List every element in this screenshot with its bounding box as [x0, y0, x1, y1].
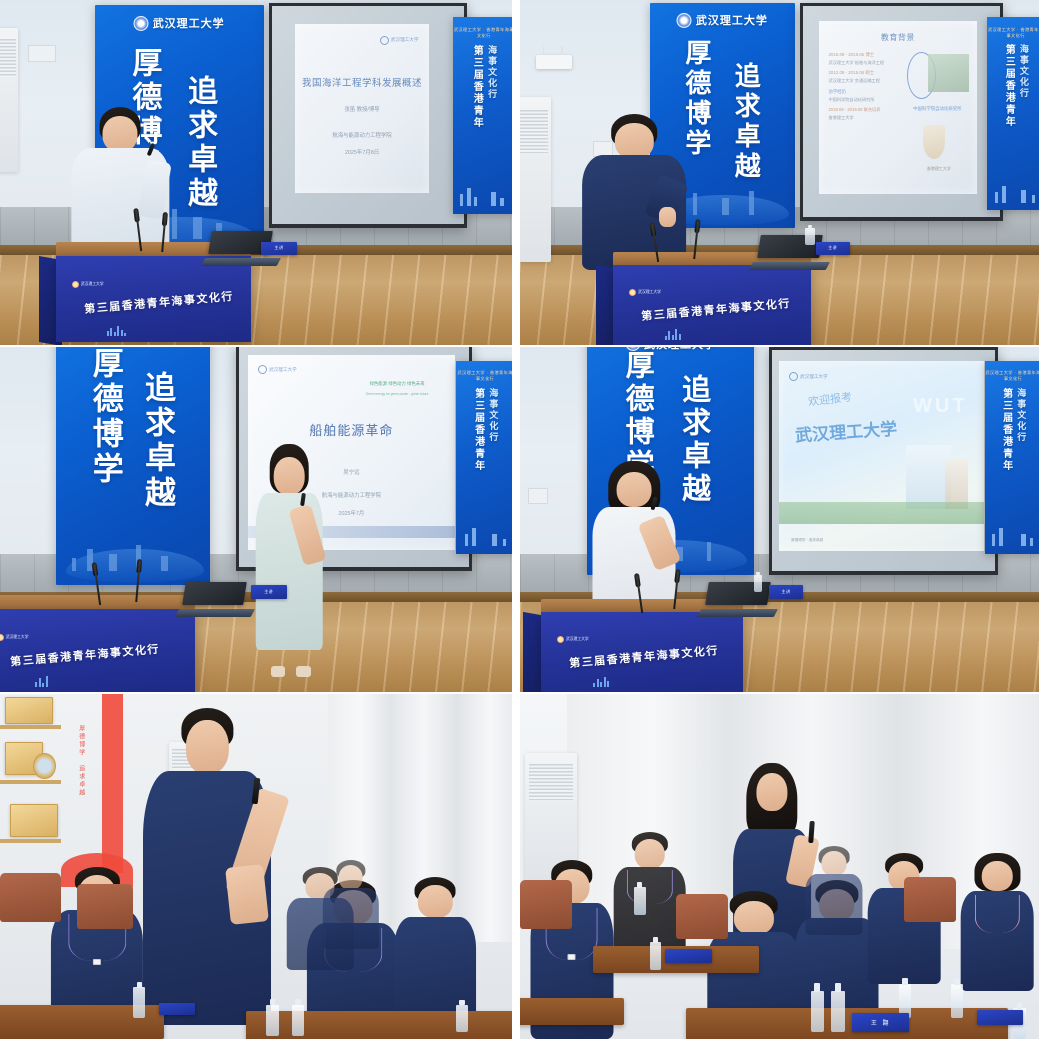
- slide-bullet-0: 2015.09 - 2019.06 博士: [828, 52, 904, 58]
- podium-name-placard: 主讲: [261, 242, 297, 256]
- side-banner-columns: 第三届香港青年 海事文化行: [453, 45, 512, 171]
- questioner-head: [756, 773, 787, 812]
- presentation-slide-1: 武汉理工大学 我国海洋工程学科发展概述 张笛 教授/博导 航海与能源动力工程学院…: [295, 24, 429, 194]
- podium: 武汉理工大学 第三届香港青年海事文化行: [0, 595, 195, 692]
- projection-screen: 武汉理工大学 欢迎报考 武汉理工大学 WUT 厚德博学 · 追求卓越: [772, 350, 995, 571]
- banner-skyline-graphic: [56, 520, 210, 585]
- speaker-shoe-left: [271, 666, 286, 677]
- slide-footer: 厚德博学 · 追求卓越: [791, 538, 823, 543]
- side-banner-col-1: 第三届香港青年: [470, 45, 482, 171]
- podium-bar-graphic: [107, 326, 127, 336]
- side-banner-skyline: [453, 171, 512, 214]
- podium-name-placard: 主讲: [816, 242, 850, 256]
- air-conditioner-unit: [0, 28, 18, 173]
- slide-university-logo: 武汉理工大学: [258, 365, 297, 374]
- side-banner: 武汉理工大学 · 香港青年海事文化行 第三届香港青年 海事文化行: [456, 361, 512, 554]
- banner-university-name: 武汉理工大学: [644, 347, 716, 352]
- podium-bar-graphic: [665, 329, 681, 340]
- water-bottle-2: [266, 1005, 278, 1036]
- projection-screen: 武汉理工大学 我国海洋工程学科发展概述 张笛 教授/博导 航海与能源动力工程学院…: [272, 6, 464, 223]
- podium-banner-text: 第三届香港青年海事文化行: [83, 287, 239, 317]
- lecture-room-scene-1: 武汉理工大学 厚德博学 追求卓越 武汉理工大学: [0, 0, 512, 345]
- desk-name-placard-main: 王 翾: [852, 1013, 909, 1032]
- side-banner-skyline: [987, 168, 1039, 211]
- audience-polo-shirt: [323, 888, 379, 949]
- slide-institute-caption-2: 香港理工大学: [904, 166, 973, 172]
- desk-name-placard-left: [665, 949, 712, 963]
- banner-motto-col-1: 厚德博学: [87, 347, 122, 487]
- honor-plaque-3: [10, 804, 58, 837]
- slide-calligraphy-welcome: 欢迎报考: [807, 389, 853, 410]
- slide-logo-text: 武汉理工大学: [391, 37, 419, 43]
- slide-bullet-5: 中国科学院自动化研究所: [828, 97, 904, 103]
- podium-logo-text: 武汉理工大学: [81, 282, 104, 287]
- auditorium-seat-1: [0, 873, 61, 921]
- audience-head: [733, 901, 773, 935]
- presentation-slide-4: 武汉理工大学 欢迎报考 武汉理工大学 WUT 厚德博学 · 追求卓越: [779, 361, 984, 551]
- slide-bullet-list: 2015.09 - 2019.06 博士 武汉理工大学 船舶与海洋工程 2012…: [828, 52, 904, 121]
- podium-bar-graphic: [35, 676, 48, 687]
- projection-screen-frame: 武汉理工大学 我国海洋工程学科发展概述 张笛 教授/博导 航海与能源动力工程学院…: [269, 3, 467, 227]
- audience-head: [634, 839, 665, 869]
- photo-panel-5[interactable]: 厚德博学 追求卓越: [0, 694, 512, 1039]
- photo-panel-4[interactable]: 武汉理工大学 厚德博学 追求卓越 武汉理工大学: [520, 347, 1039, 692]
- water-bottle: [754, 575, 762, 592]
- slide-seal-icon: [789, 372, 798, 381]
- podium-seal-icon: [72, 281, 79, 288]
- questioner-person: [143, 708, 271, 1025]
- audience-polo-shirt: [961, 891, 1034, 990]
- banner-motto-col-2: 追求卓越: [677, 374, 709, 506]
- slide-bullet-4: 访学经历: [828, 89, 904, 95]
- laptop-keyboard-base: [175, 609, 255, 617]
- banner-university-name: 武汉理工大学: [696, 12, 768, 28]
- audience-head: [418, 885, 452, 918]
- slide-institute-caption-1: 中国科学院自动化研究所: [904, 106, 970, 112]
- desk-row-right: [246, 1011, 512, 1039]
- podium-front-panel: 武汉理工大学 第三届香港青年海事文化行: [56, 256, 251, 342]
- wall-switch-plate: [28, 45, 56, 63]
- banner-university-logo: 武汉理工大学: [677, 12, 768, 28]
- side-banner-skyline: [456, 511, 512, 554]
- water-bottle-1: [133, 987, 145, 1018]
- side-banner: 武汉理工大学 · 香港青年海事文化行 第三届香港青年 海事文化行: [453, 17, 512, 214]
- side-banner-columns: 第三届香港青年 海事文化行: [987, 44, 1039, 168]
- podium-logo: 武汉理工大学: [629, 289, 661, 296]
- wall-calligraphy-text: 厚德博学 追求卓越: [77, 725, 86, 835]
- photo-panel-1[interactable]: 武汉理工大学 厚德博学 追求卓越 武汉理工大学: [0, 0, 512, 345]
- audience-head: [821, 851, 846, 876]
- side-banner-col-2: 海事文化行: [487, 45, 498, 171]
- water-bottle-4: [831, 991, 844, 1032]
- audience-member-7: [805, 846, 862, 936]
- speaker-head: [615, 123, 653, 159]
- laptop-screen: [183, 582, 248, 605]
- side-banner-col-2: 海事文化行: [1018, 44, 1029, 168]
- laptop-keyboard-base: [749, 262, 830, 270]
- air-conditioner-unit: [520, 97, 551, 263]
- podium-logo-text: 武汉理工大学: [566, 637, 589, 642]
- slide-title: 教育背景: [819, 32, 977, 43]
- podium-front-panel: 武汉理工大学 第三届香港青年海事文化行: [0, 609, 195, 692]
- university-seal-icon: [134, 16, 149, 31]
- banner-motto-col-2: 追求卓越: [139, 371, 174, 511]
- placard-text: 主讲: [274, 245, 283, 251]
- podium-logo: 武汉理工大学: [72, 281, 104, 288]
- banner-motto-col-2: 追求卓越: [731, 62, 760, 182]
- podium-seal-icon: [629, 289, 636, 296]
- auditorium-seat-1: [520, 880, 572, 928]
- slide-title: 我国海洋工程学科发展概述: [295, 75, 429, 89]
- photo-panel-2[interactable]: 武汉理工大学 厚德博学 追求卓越 教育背景 2015.09 - 2019.06 …: [520, 0, 1039, 345]
- side-banner-header: 武汉理工大学 · 香港青年海事文化行: [985, 370, 1039, 382]
- speaker-person: [256, 444, 323, 668]
- wall-switch-plate: [528, 488, 548, 504]
- slide-bullet-1: 武汉理工大学 船舶与海洋工程: [828, 60, 904, 66]
- speaker-shoe-right: [296, 666, 311, 677]
- desk-row-left: [520, 998, 624, 1026]
- audience-room-scene-6: 王 翾: [520, 694, 1039, 1039]
- side-banner-col-2: 海事文化行: [1016, 388, 1027, 512]
- questioner-arm-lower: [225, 865, 269, 926]
- water-bottle-3: [292, 1005, 304, 1036]
- water-bottle-3: [811, 991, 824, 1032]
- placard-text: 主讲: [264, 589, 273, 595]
- podium-banner-text: 第三届香港青年海事文化行: [641, 294, 800, 324]
- red-wall-decoration: [102, 694, 122, 873]
- questioner-head: [186, 720, 228, 774]
- slide-image-thumbnail: [928, 54, 969, 92]
- podium-logo: 武汉理工大学: [557, 636, 589, 643]
- slide-campus-greenery: [779, 502, 984, 525]
- slide-bullet-3: 武汉理工大学 交通运输工程: [828, 78, 904, 84]
- slide-calligraphy-university: 武汉理工大学: [794, 414, 897, 446]
- photo-collage: 武汉理工大学 厚德博学 追求卓越 武汉理工大学: [0, 0, 1039, 1039]
- placard-text: 主讲: [828, 245, 837, 251]
- banner-motto-col-1: 厚德博学: [682, 39, 711, 159]
- water-bottle-2: [650, 942, 661, 970]
- slide-logo-text: 武汉理工大学: [800, 374, 828, 380]
- lecture-room-scene-4: 武汉理工大学 厚德博学 追求卓越 武汉理工大学: [520, 347, 1039, 692]
- banner-university-logo: 武汉理工大学: [134, 15, 225, 31]
- speaker-head: [103, 116, 138, 152]
- water-bottle: [805, 228, 814, 245]
- honor-shelf-1: [0, 725, 61, 729]
- slide-university-logo: 武汉理工大学: [789, 372, 828, 381]
- water-bottle-4: [456, 1005, 468, 1033]
- slide-institute-logo-2: [923, 125, 945, 160]
- slide-university-logo: 武汉理工大学: [380, 36, 419, 45]
- laptop-keyboard-base: [201, 258, 281, 266]
- audience-member-2: [613, 832, 686, 956]
- side-banner-header: 武汉理工大学 · 香港青年海事文化行: [987, 27, 1039, 39]
- honor-medal: [33, 753, 55, 779]
- side-banner-col-1: 第三届香港青年: [1002, 44, 1014, 168]
- podium-front-panel: 武汉理工大学 第三届香港青年海事文化行: [613, 265, 810, 345]
- slide-seal-icon: [258, 365, 267, 374]
- slide-bullet-2: 2012.09 - 2015.06 硕士: [828, 70, 904, 76]
- podium-front-panel: 武汉理工大学 第三届香港青年海事文化行: [541, 612, 743, 692]
- side-banner-skyline: [985, 511, 1039, 554]
- university-seal-icon: [677, 13, 692, 28]
- lecture-room-scene-2: 武汉理工大学 厚德博学 追求卓越 教育背景 2015.09 - 2019.06 …: [520, 0, 1039, 345]
- audience-member-6: [961, 853, 1034, 991]
- auditorium-seat-2: [676, 894, 728, 939]
- projection-screen-frame: 教育背景 2015.09 - 2019.06 博士 武汉理工大学 船舶与海洋工程…: [800, 3, 1003, 220]
- podium-name-placard: 主讲: [769, 585, 803, 599]
- podium-seal-icon: [0, 634, 4, 641]
- side-banner-col-1: 第三届香港青年: [472, 388, 484, 512]
- side-banner-header: 武汉理工大学 · 香港青年海事文化行: [456, 370, 512, 382]
- laptop-keyboard-base: [697, 609, 778, 617]
- slide-presenter: 张笛 教授/博导: [295, 105, 429, 113]
- audience-badge: [568, 954, 576, 960]
- water-bottle-6: [951, 984, 963, 1019]
- podium-banner-text: 第三届香港青年海事文化行: [569, 641, 732, 671]
- side-banner: 武汉理工大学 · 香港青年海事文化行 第三届香港青年 海事文化行: [987, 17, 1039, 210]
- audience-head: [982, 861, 1013, 891]
- podium-name-placard: 主讲: [251, 585, 287, 599]
- photo-panel-6[interactable]: 王 翾: [520, 694, 1039, 1039]
- side-banner-col-2: 海事文化行: [488, 388, 499, 512]
- placard-name-text: 王 翾: [871, 1018, 891, 1027]
- desk-name-placard-right: [977, 1010, 1024, 1026]
- podium-banner-text: 第三届香港青年海事文化行: [9, 639, 182, 670]
- microphone-stem: [673, 571, 679, 609]
- slide-bullet-7: 香港理工大学: [828, 115, 904, 121]
- projection-screen: 教育背景 2015.09 - 2019.06 博士 武汉理工大学 船舶与海洋工程…: [803, 6, 1000, 216]
- honor-shelf-3: [0, 839, 61, 843]
- side-banner: 武汉理工大学 · 香港青年海事文化行 第三届香港青年 海事文化行: [985, 361, 1039, 554]
- audience-head: [338, 865, 363, 890]
- banner-university-name: 武汉理工大学: [153, 15, 225, 31]
- audience-badge: [93, 959, 101, 965]
- audience-lanyard: [975, 895, 1021, 933]
- side-banner-columns: 第三届香港青年 海事文化行: [456, 388, 512, 512]
- side-banner-columns: 第三届香港青年 海事文化行: [985, 388, 1039, 512]
- audience-member-5: [323, 860, 379, 950]
- audience-polo-shirt: [805, 874, 862, 935]
- podium-bar-graphic: [593, 677, 609, 687]
- honor-shelf-2: [0, 780, 61, 784]
- slide-affiliation: 航海与能源动力工程学院: [295, 131, 429, 139]
- desk-name-placard: [159, 1003, 195, 1015]
- slide-bullet-6: 2018.09 - 2019.09 联合培养: [828, 107, 904, 113]
- slide-header-en: Green energy for green power - green fut…: [351, 392, 442, 396]
- lecture-room-scene-3: 厚德博学 追求卓越 武汉理工大学 绿色能源 绿色动力: [0, 347, 512, 692]
- water-bottle-1: [634, 887, 645, 915]
- slide-seal-icon: [380, 36, 389, 45]
- backdrop-banner: 厚德博学 追求卓越: [56, 347, 210, 585]
- presentation-slide-2: 教育背景 2015.09 - 2019.06 博士 武汉理工大学 船舶与海洋工程…: [819, 21, 977, 194]
- wifi-router: [536, 55, 572, 69]
- projection-screen-frame: 武汉理工大学 欢迎报考 武汉理工大学 WUT 厚德博学 · 追求卓越: [769, 347, 998, 575]
- slide-title: 船舶能源革命: [248, 420, 455, 439]
- side-banner-col-1: 第三届香港青年: [1000, 388, 1012, 512]
- slide-logo-text: 武汉理工大学: [269, 367, 297, 373]
- podium-laptop: [184, 582, 245, 617]
- speaker-head: [274, 457, 305, 495]
- speaker-head: [617, 472, 652, 508]
- honor-plaque-1: [5, 697, 53, 723]
- podium-logo: 武汉理工大学: [0, 634, 29, 641]
- speaker-hands: [659, 207, 676, 227]
- photo-panel-3[interactable]: 厚德博学 追求卓越 武汉理工大学 绿色能源 绿色动力: [0, 347, 512, 692]
- podium-logo-text: 武汉理工大学: [6, 635, 29, 640]
- side-banner-header: 武汉理工大学 · 香港青年海事文化行: [453, 27, 512, 39]
- placard-text: 主讲: [781, 589, 790, 595]
- auditorium-seat-3: [904, 877, 956, 922]
- slide-watermark: WUT: [913, 395, 968, 418]
- slide-date: 2025年7月8日: [295, 148, 429, 156]
- audience-room-scene-5: 厚德博学 追求卓越: [0, 694, 512, 1039]
- auditorium-seat-2: [77, 884, 133, 929]
- podium-logo-text: 武汉理工大学: [638, 290, 661, 295]
- slide-header-cn: 绿色能源 绿色动力 绿色未来: [351, 381, 442, 387]
- podium-seal-icon: [557, 636, 564, 643]
